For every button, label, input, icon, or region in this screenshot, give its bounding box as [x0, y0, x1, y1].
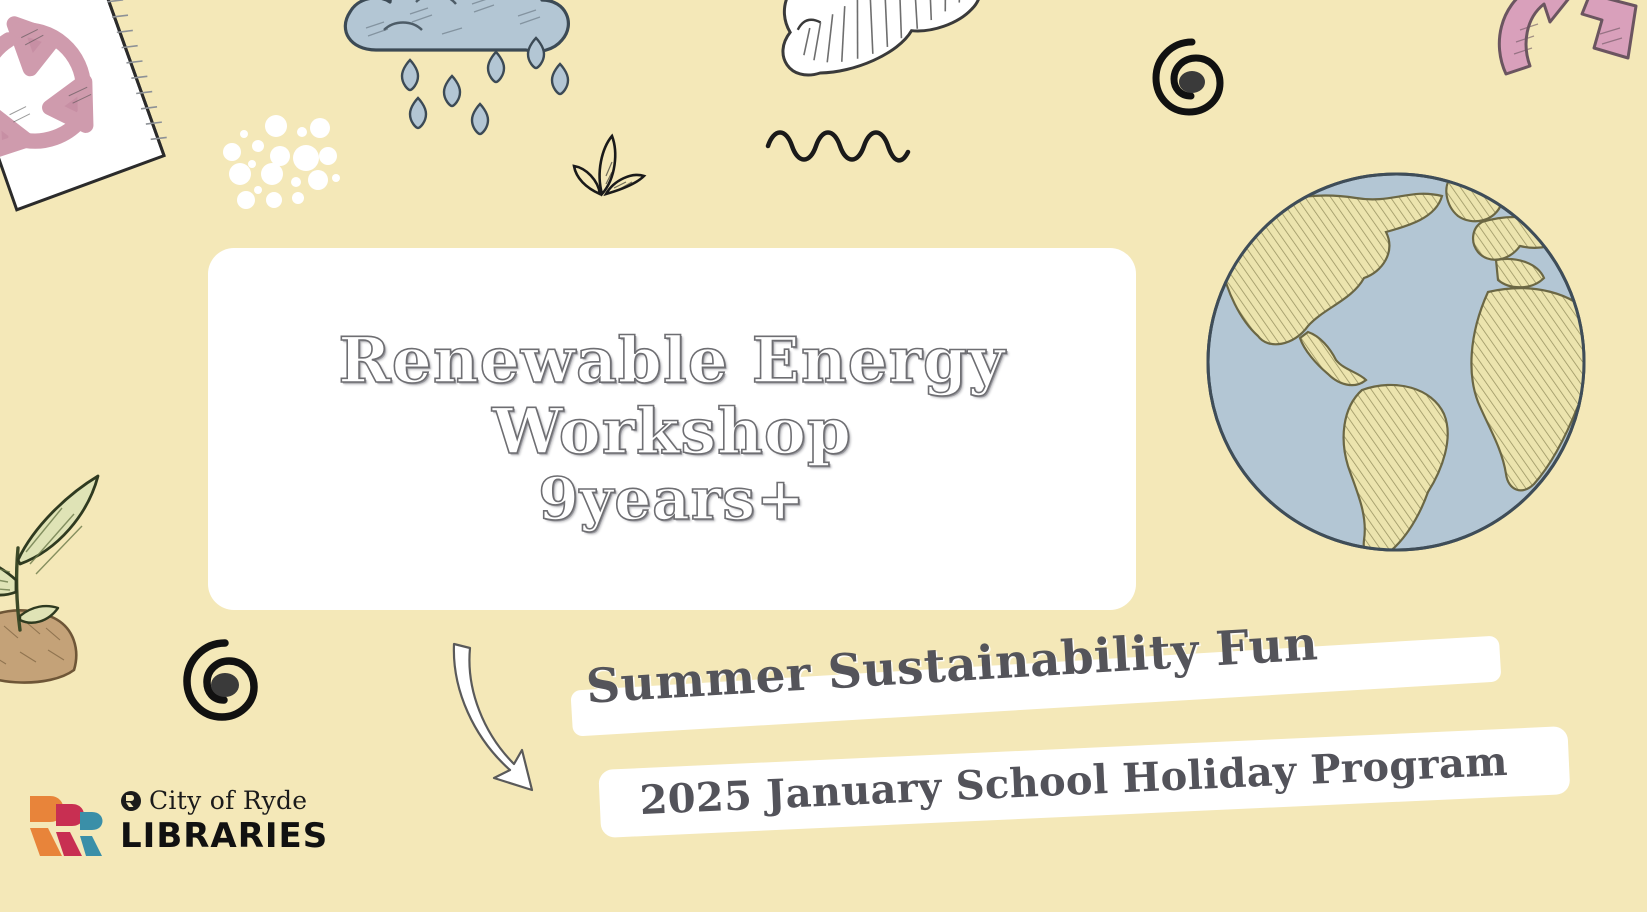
- logo-division-text: LIBRARIES: [120, 816, 328, 856]
- logo-text-block: City of Ryde LIBRARIES: [120, 786, 328, 856]
- logo-organisation-text: City of Ryde: [149, 786, 307, 815]
- light-bulb-illustration: [748, 0, 1038, 115]
- logo-organisation-line: City of Ryde: [120, 786, 328, 815]
- subhead-banner: 2025 January School Holiday Program: [598, 726, 1575, 846]
- spiral-doodle-icon: [178, 634, 270, 726]
- seedling-illustration: [0, 440, 150, 690]
- poster-canvas: Renewable Energy Workshop 9years+ Summer…: [0, 0, 1647, 912]
- title-line-1: Renewable Energy: [338, 328, 1005, 393]
- ryde-roundel-icon: [120, 790, 142, 812]
- spiral-doodle-icon: [1148, 34, 1234, 120]
- headline-banner: Summer Sustainability Fun: [562, 599, 1516, 747]
- recycle-arrow-icon: [1486, 0, 1647, 93]
- ryde-r-marks-icon: [28, 794, 112, 858]
- city-of-ryde-libraries-logo: City of Ryde LIBRARIES: [28, 786, 328, 862]
- rain-cloud-illustration: [322, 0, 592, 173]
- title-line-2: Workshop: [492, 399, 852, 464]
- title-card: Renewable Energy Workshop 9years+: [208, 248, 1136, 610]
- wavy-line-doodle-icon: [762, 122, 912, 178]
- recycle-symbol-on-paper-illustration: [0, 0, 202, 235]
- leaf-sprout-doodle-icon: [556, 128, 661, 200]
- globe-illustration: [1196, 140, 1596, 590]
- curved-arrow-icon: [436, 620, 576, 800]
- dot-cluster-decoration: [214, 112, 344, 212]
- title-line-3: 9years+: [538, 470, 805, 530]
